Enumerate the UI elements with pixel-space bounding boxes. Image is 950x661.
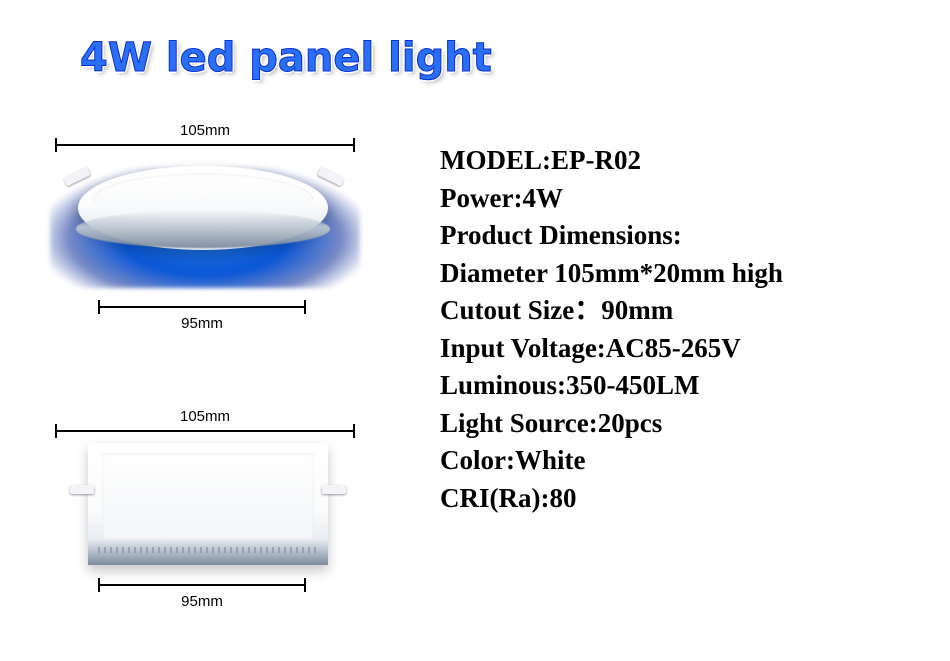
square-top-dimension-label: 105mm xyxy=(55,408,355,425)
square-panel-diffuser xyxy=(102,453,314,539)
square-bottom-dimension-bar xyxy=(98,578,306,592)
round-led-panel-image xyxy=(40,150,370,290)
round-bottom-dimension-bar xyxy=(98,300,306,314)
spec-luminous: Luminous:350-450LM xyxy=(440,367,940,405)
spec-dimensions-label: Product Dimensions: xyxy=(440,217,940,255)
dimension-line xyxy=(55,144,355,146)
product-spec-page: 4W led panel light 105mm 95mm xyxy=(0,0,950,661)
specification-list: MODEL:EP-R02 Power:4W Product Dimensions… xyxy=(440,142,940,517)
dimension-line xyxy=(98,306,306,308)
dimension-cap-right xyxy=(304,300,306,314)
page-title: 4W led panel light xyxy=(80,35,492,81)
square-led-panel-image xyxy=(40,435,370,585)
dimension-cap-right xyxy=(304,578,306,592)
square-bottom-dimension-label: 95mm xyxy=(98,593,306,610)
spec-color: Color:White xyxy=(440,442,940,480)
dimension-line xyxy=(55,430,355,432)
spec-input-voltage: Input Voltage:AC85-265V xyxy=(440,330,940,368)
dimension-line xyxy=(98,584,306,586)
led-chip-row xyxy=(98,547,318,553)
round-bottom-dimension-label: 95mm xyxy=(98,315,306,332)
spec-cri: CRI(Ra):80 xyxy=(440,480,940,518)
mounting-clip-right xyxy=(322,485,346,494)
spec-dimensions-value: Diameter 105mm*20mm high xyxy=(440,255,940,293)
spec-light-source: Light Source:20pcs xyxy=(440,405,940,443)
mounting-clip-left xyxy=(70,485,94,494)
spec-power: Power:4W xyxy=(440,180,940,218)
round-top-dimension-label: 105mm xyxy=(55,122,355,139)
spec-model: MODEL:EP-R02 xyxy=(440,142,940,180)
round-panel-rim xyxy=(76,210,330,248)
spec-cutout-size: Cutout Size：90mm xyxy=(440,292,940,330)
